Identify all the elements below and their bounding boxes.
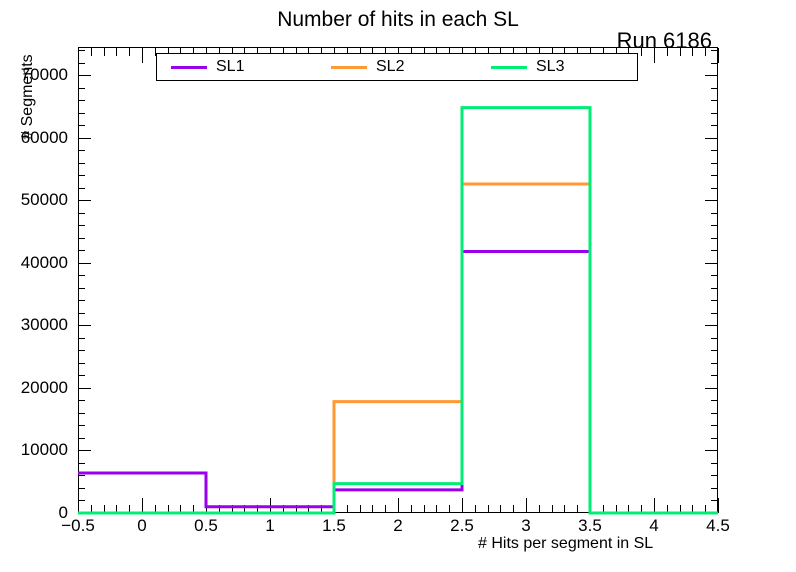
y-tick-right xyxy=(711,63,718,64)
x-tick xyxy=(475,505,476,513)
x-tick xyxy=(91,505,92,513)
x-tick xyxy=(168,505,169,513)
x-tick-label: 4 xyxy=(649,516,658,536)
y-tick xyxy=(78,200,91,201)
x-tick xyxy=(385,505,386,513)
x-tick xyxy=(667,505,668,513)
y-tick xyxy=(78,488,85,489)
y-tick xyxy=(78,163,85,164)
y-tick-right xyxy=(711,463,718,464)
x-tick xyxy=(500,505,501,513)
y-tick-right xyxy=(711,375,718,376)
x-tick-top xyxy=(705,48,706,56)
y-tick-right xyxy=(711,413,718,414)
x-tick xyxy=(372,505,373,513)
x-tick xyxy=(552,505,553,513)
y-tick xyxy=(78,288,85,289)
y-tick-right xyxy=(711,225,718,226)
x-tick xyxy=(296,505,297,513)
legend-swatch-sl1 xyxy=(171,66,207,69)
y-tick-right xyxy=(711,238,718,239)
x-tick xyxy=(424,505,425,513)
x-tick-top xyxy=(142,48,143,63)
y-tick xyxy=(78,150,85,151)
y-tick xyxy=(78,475,85,476)
y-tick-right xyxy=(711,250,718,251)
y-tick xyxy=(78,100,85,101)
x-tick xyxy=(193,505,194,513)
y-tick xyxy=(78,213,85,214)
x-tick xyxy=(398,498,399,513)
y-tick xyxy=(78,513,91,514)
y-tick xyxy=(78,375,85,376)
x-tick-top xyxy=(718,48,719,63)
x-tick-label: 1 xyxy=(265,516,274,536)
y-tick-right xyxy=(711,213,718,214)
x-tick-top xyxy=(116,48,117,56)
x-tick xyxy=(116,505,117,513)
x-tick xyxy=(270,498,271,513)
x-tick-label: 2 xyxy=(393,516,402,536)
x-tick xyxy=(577,505,578,513)
y-tick xyxy=(78,175,85,176)
y-tick-right xyxy=(711,438,718,439)
x-tick-label: 1.5 xyxy=(322,516,346,536)
x-tick xyxy=(539,505,540,513)
y-tick xyxy=(78,63,85,64)
x-tick xyxy=(718,498,719,513)
y-tick-right xyxy=(711,88,718,89)
y-tick-right xyxy=(711,163,718,164)
x-tick-label: 0 xyxy=(137,516,146,536)
y-tick xyxy=(78,300,85,301)
y-tick xyxy=(78,75,91,76)
y-tick xyxy=(78,225,85,226)
x-tick xyxy=(513,505,514,513)
x-tick xyxy=(142,498,143,513)
y-tick-right xyxy=(711,150,718,151)
y-tick xyxy=(78,275,85,276)
x-axis-title: # Hits per segment in SL xyxy=(478,535,653,553)
x-tick xyxy=(232,505,233,513)
y-tick-right xyxy=(711,125,718,126)
y-tick xyxy=(78,138,91,139)
x-tick xyxy=(219,505,220,513)
x-tick xyxy=(564,505,565,513)
x-tick-top xyxy=(104,48,105,56)
legend-entry-sl3[interactable]: SL3 xyxy=(477,58,637,76)
y-tick-right xyxy=(711,275,718,276)
legend-entry-sl1[interactable]: SL1 xyxy=(157,58,317,76)
y-tick xyxy=(78,125,85,126)
y-tick xyxy=(78,250,85,251)
y-tick-right xyxy=(705,75,718,76)
y-tick-right xyxy=(705,450,718,451)
legend-swatch-sl2 xyxy=(331,66,367,69)
x-tick xyxy=(206,498,207,513)
x-tick xyxy=(308,505,309,513)
x-tick xyxy=(488,505,489,513)
legend-entry-sl2[interactable]: SL2 xyxy=(317,58,477,76)
x-tick xyxy=(590,498,591,513)
y-tick xyxy=(78,338,85,339)
y-tick-right xyxy=(711,350,718,351)
x-tick-label: 3.5 xyxy=(578,516,602,536)
y-tick-label: 50000 xyxy=(21,190,68,210)
y-tick xyxy=(78,113,85,114)
y-tick-right xyxy=(711,100,718,101)
x-tick xyxy=(641,505,642,513)
x-tick xyxy=(411,505,412,513)
x-tick xyxy=(705,505,706,513)
y-tick-right xyxy=(711,425,718,426)
y-tick xyxy=(78,263,91,264)
x-tick-label: 2.5 xyxy=(450,516,474,536)
x-tick-label: 0.5 xyxy=(194,516,218,536)
plot-frame xyxy=(78,47,718,513)
legend-label-sl2: SL2 xyxy=(376,58,404,76)
y-tick xyxy=(78,350,85,351)
x-tick-top xyxy=(78,48,79,63)
y-tick xyxy=(78,425,85,426)
x-tick xyxy=(78,498,79,513)
y-tick-right xyxy=(711,338,718,339)
x-tick xyxy=(654,498,655,513)
y-tick-right xyxy=(711,500,718,501)
y-tick-right xyxy=(711,50,718,51)
x-tick-top xyxy=(641,48,642,56)
y-tick xyxy=(78,388,91,389)
x-tick xyxy=(334,498,335,513)
y-tick xyxy=(78,463,85,464)
x-tick-label: 4.5 xyxy=(706,516,730,536)
legend-swatch-sl3 xyxy=(491,66,527,69)
x-tick xyxy=(257,505,258,513)
y-tick-label: 70000 xyxy=(21,65,68,85)
y-tick-right xyxy=(711,313,718,314)
y-tick-right xyxy=(711,363,718,364)
y-tick xyxy=(78,313,85,314)
legend-label-sl1: SL1 xyxy=(216,58,244,76)
y-tick-label: 20000 xyxy=(21,378,68,398)
y-tick-right xyxy=(711,188,718,189)
x-tick xyxy=(603,505,604,513)
chart-canvas: Number of hits in each SL Run 6186 # Seg… xyxy=(0,0,796,572)
x-tick xyxy=(462,498,463,513)
x-tick xyxy=(526,498,527,513)
x-tick-label: −0.5 xyxy=(61,516,95,536)
y-tick-right xyxy=(711,475,718,476)
y-tick xyxy=(78,438,85,439)
x-tick-top xyxy=(91,48,92,56)
x-tick-top xyxy=(129,48,130,56)
y-tick xyxy=(78,50,85,51)
legend: SL1 SL2 SL3 xyxy=(156,53,638,81)
x-tick xyxy=(436,505,437,513)
x-tick xyxy=(321,505,322,513)
y-tick-label: 10000 xyxy=(21,440,68,460)
y-tick-label: 60000 xyxy=(21,128,68,148)
y-tick-label: 30000 xyxy=(21,315,68,335)
y-tick xyxy=(78,363,85,364)
y-tick-right xyxy=(705,513,718,514)
y-tick-right xyxy=(705,200,718,201)
y-tick-right xyxy=(711,113,718,114)
x-tick-top xyxy=(654,48,655,63)
legend-label-sl3: SL3 xyxy=(536,58,564,76)
y-tick-right xyxy=(705,138,718,139)
x-tick xyxy=(449,505,450,513)
y-tick xyxy=(78,88,85,89)
y-tick-right xyxy=(705,388,718,389)
y-tick-right xyxy=(711,175,718,176)
x-tick xyxy=(104,505,105,513)
y-tick xyxy=(78,450,91,451)
x-tick-label: 3 xyxy=(521,516,530,536)
y-tick-right xyxy=(705,325,718,326)
x-tick xyxy=(692,505,693,513)
y-tick-right xyxy=(705,263,718,264)
y-tick-right xyxy=(711,400,718,401)
x-tick xyxy=(347,505,348,513)
y-tick-right xyxy=(711,488,718,489)
x-tick xyxy=(244,505,245,513)
y-tick-right xyxy=(711,288,718,289)
x-tick xyxy=(616,505,617,513)
x-tick-top xyxy=(680,48,681,56)
y-tick xyxy=(78,238,85,239)
y-tick-right xyxy=(711,300,718,301)
x-tick xyxy=(628,505,629,513)
x-tick xyxy=(129,505,130,513)
y-axis-title: # Segments xyxy=(19,17,37,177)
y-tick xyxy=(78,325,91,326)
y-tick xyxy=(78,400,85,401)
y-tick-label: 40000 xyxy=(21,253,68,273)
x-tick-top xyxy=(692,48,693,56)
x-tick xyxy=(360,505,361,513)
x-tick-top xyxy=(667,48,668,56)
x-tick xyxy=(680,505,681,513)
y-tick xyxy=(78,413,85,414)
y-tick xyxy=(78,188,85,189)
y-tick xyxy=(78,500,85,501)
x-tick xyxy=(283,505,284,513)
x-tick xyxy=(180,505,181,513)
x-tick xyxy=(155,505,156,513)
